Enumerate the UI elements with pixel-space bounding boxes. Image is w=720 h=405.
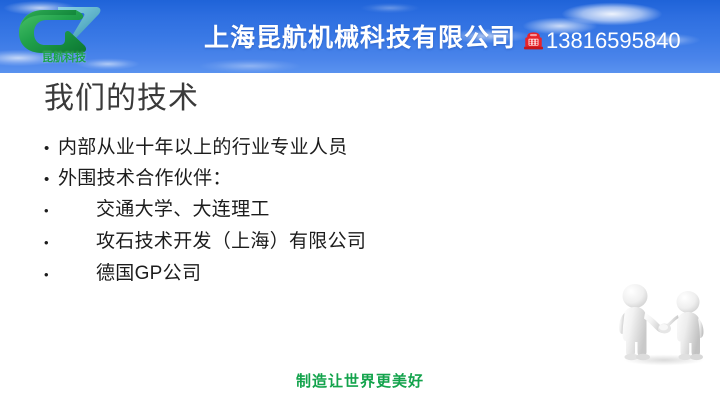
bullet-marker-icon: • bbox=[44, 164, 58, 195]
logo-wordmark: 昆航科技 bbox=[22, 52, 106, 65]
contact-phone[interactable]: 13816595840 bbox=[522, 27, 681, 55]
bullet-marker-icon: • bbox=[44, 259, 58, 291]
bullet-item: • 德国GP公司 bbox=[44, 258, 664, 290]
bullet-item: • 交通大学、大连理工 bbox=[44, 194, 664, 226]
bullet-item: • 外围技术合作伙伴： bbox=[44, 163, 664, 194]
bullet-list: • 内部从业十年以上的行业专业人员 • 外围技术合作伙伴： • 交通大学、大连理… bbox=[44, 132, 664, 290]
footer-slogan: 制造让世界更美好 bbox=[0, 373, 720, 391]
bullet-text: 攻石技术开发（上海）有限公司 bbox=[96, 226, 366, 258]
bullet-item: • 内部从业十年以上的行业专业人员 bbox=[44, 132, 664, 163]
slide-title: 我们的技术 bbox=[44, 82, 199, 116]
bullet-marker-icon: • bbox=[44, 195, 58, 227]
bullet-text: 交通大学、大连理工 bbox=[96, 194, 270, 226]
bullet-text: 德国GP公司 bbox=[96, 258, 201, 290]
telephone-icon bbox=[522, 30, 545, 52]
bullet-marker-icon: • bbox=[44, 133, 58, 164]
bullet-text: 内部从业十年以上的行业专业人员 bbox=[58, 132, 348, 163]
figure-left bbox=[619, 284, 667, 360]
bullet-marker-icon: • bbox=[44, 227, 58, 259]
presentation-slide: 昆航科技 上海昆航机械科技有限公司 bbox=[0, 0, 720, 405]
handshake-figures-image bbox=[612, 282, 716, 370]
header-banner: 昆航科技 上海昆航机械科技有限公司 bbox=[0, 0, 720, 73]
bullet-text: 外围技术合作伙伴： bbox=[58, 163, 232, 194]
phone-number-text: 13816595840 bbox=[546, 29, 681, 53]
bullet-item: • 攻石技术开发（上海）有限公司 bbox=[44, 226, 664, 258]
